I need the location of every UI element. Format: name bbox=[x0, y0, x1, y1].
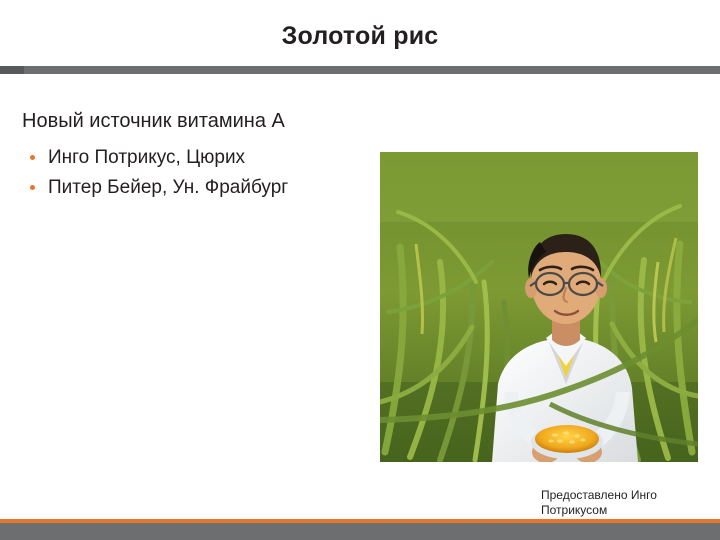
lead-paragraph: Новый источник витамина А bbox=[22, 108, 372, 134]
footer-band bbox=[0, 523, 720, 540]
header-band: Золотой рис bbox=[0, 0, 720, 74]
list-item: Питер Бейер, Ун. Фрайбург bbox=[22, 173, 372, 203]
list-item: Инго Потрикус, Цюрих bbox=[22, 143, 372, 173]
photo-scientist-with-golden-rice bbox=[380, 152, 698, 462]
bullet-dot-icon bbox=[30, 155, 35, 160]
slide-canvas: Золотой рис Новый источник витамина А Ин… bbox=[0, 0, 720, 540]
photo-caption: Предоставлено Инго Потрикусом bbox=[541, 488, 711, 518]
photo-caption-line-2: Потрикусом bbox=[541, 503, 711, 518]
bullet-dot-icon bbox=[30, 185, 35, 190]
list-item-label: Питер Бейер, Ун. Фрайбург bbox=[48, 177, 288, 198]
body-text-block: Новый источник витамина А Инго Потрикус,… bbox=[22, 108, 372, 203]
page-title: Золотой рис bbox=[0, 22, 720, 51]
header-divider-accent bbox=[0, 66, 24, 74]
bullet-list: Инго Потрикус, Цюрих Питер Бейер, Ун. Фр… bbox=[22, 143, 372, 203]
header-divider-stripe bbox=[0, 66, 720, 74]
list-item-label: Инго Потрикус, Цюрих bbox=[48, 147, 245, 168]
photo-caption-line-1: Предоставлено Инго bbox=[541, 488, 711, 503]
